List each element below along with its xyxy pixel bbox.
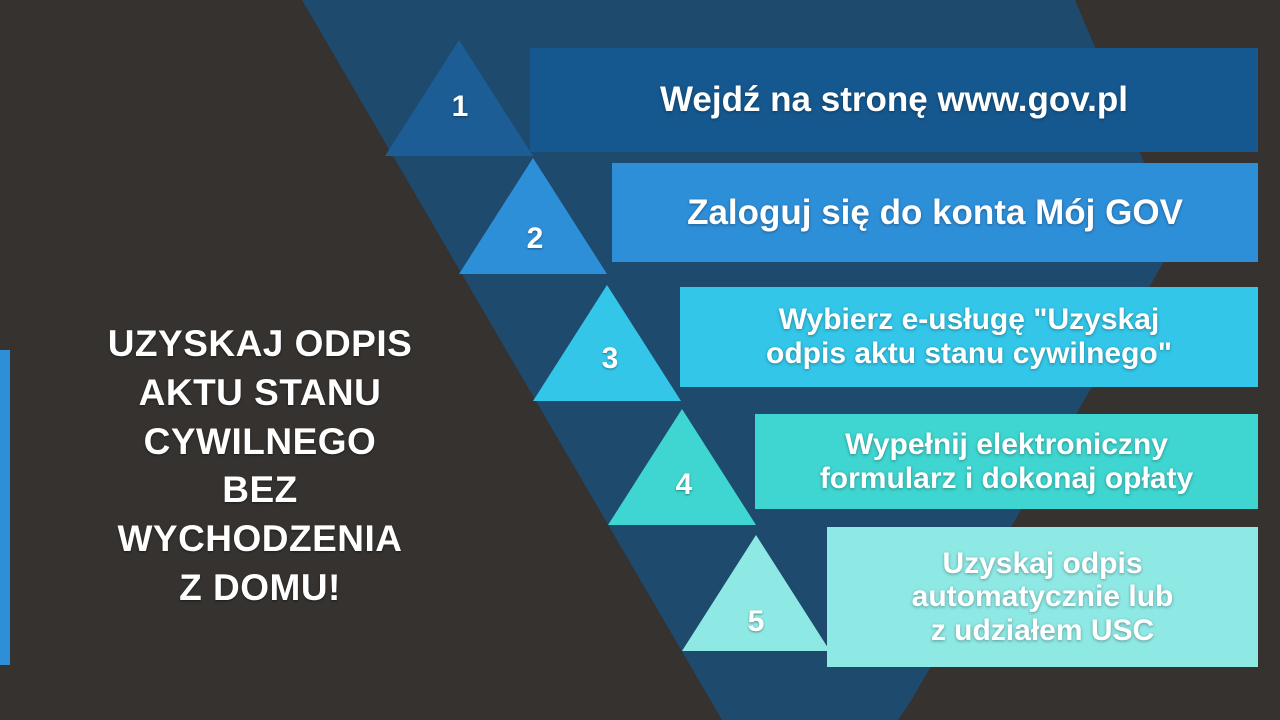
step-4-text-line-1: Wypełnij elektroniczny (820, 428, 1193, 462)
step-3-text-line-1: Wybierz e-usługę "Uzyskaj (766, 303, 1172, 337)
step-5-text-line-2: automatycznie lub (912, 580, 1174, 614)
step-3-text-line-2: odpis aktu stanu cywilnego" (766, 337, 1172, 371)
headline-line-4: BEZ (40, 466, 480, 515)
headline-line-1: UZYSKAJ ODPIS (40, 320, 480, 369)
headline-line-3: CYWILNEGO (40, 418, 480, 467)
headline-line-6: Z DOMU! (40, 564, 480, 613)
headline-line-2: AKTU STANU (40, 369, 480, 418)
infographic-canvas: UZYSKAJ ODPIS AKTU STANU CYWILNEGO BEZ W… (0, 0, 1280, 720)
step-2-text-line-1: Zaloguj się do konta Mój GOV (687, 193, 1183, 232)
step-5-box[interactable]: Uzyskaj odpis automatycznie lub z udział… (827, 527, 1258, 667)
step-2-triangle (459, 158, 607, 274)
step-4-text-line-2: formularz i dokonaj opłaty (820, 462, 1193, 496)
step-5-text-line-3: z udziałem USC (912, 614, 1174, 648)
step-4-number: 4 (664, 468, 704, 502)
step-1-number: 1 (440, 90, 480, 124)
step-4-box[interactable]: Wypełnij elektroniczny formularz i dokon… (755, 414, 1258, 509)
page-title: UZYSKAJ ODPIS AKTU STANU CYWILNEGO BEZ W… (40, 320, 480, 613)
step-1-box[interactable]: Wejdź na stronę www.gov.pl (530, 48, 1258, 152)
step-5-text-line-1: Uzyskaj odpis (912, 547, 1174, 581)
left-accent-bar (0, 350, 10, 665)
step-2-number: 2 (515, 222, 555, 256)
step-4-triangle (608, 409, 756, 525)
headline-line-5: WYCHODZENIA (40, 515, 480, 564)
step-5-number: 5 (736, 605, 776, 639)
step-3-number: 3 (590, 342, 630, 376)
step-2-box[interactable]: Zaloguj się do konta Mój GOV (612, 163, 1258, 262)
step-3-box[interactable]: Wybierz e-usługę "Uzyskaj odpis aktu sta… (680, 287, 1258, 387)
step-1-text-line-1: Wejdź na stronę www.gov.pl (660, 80, 1128, 119)
